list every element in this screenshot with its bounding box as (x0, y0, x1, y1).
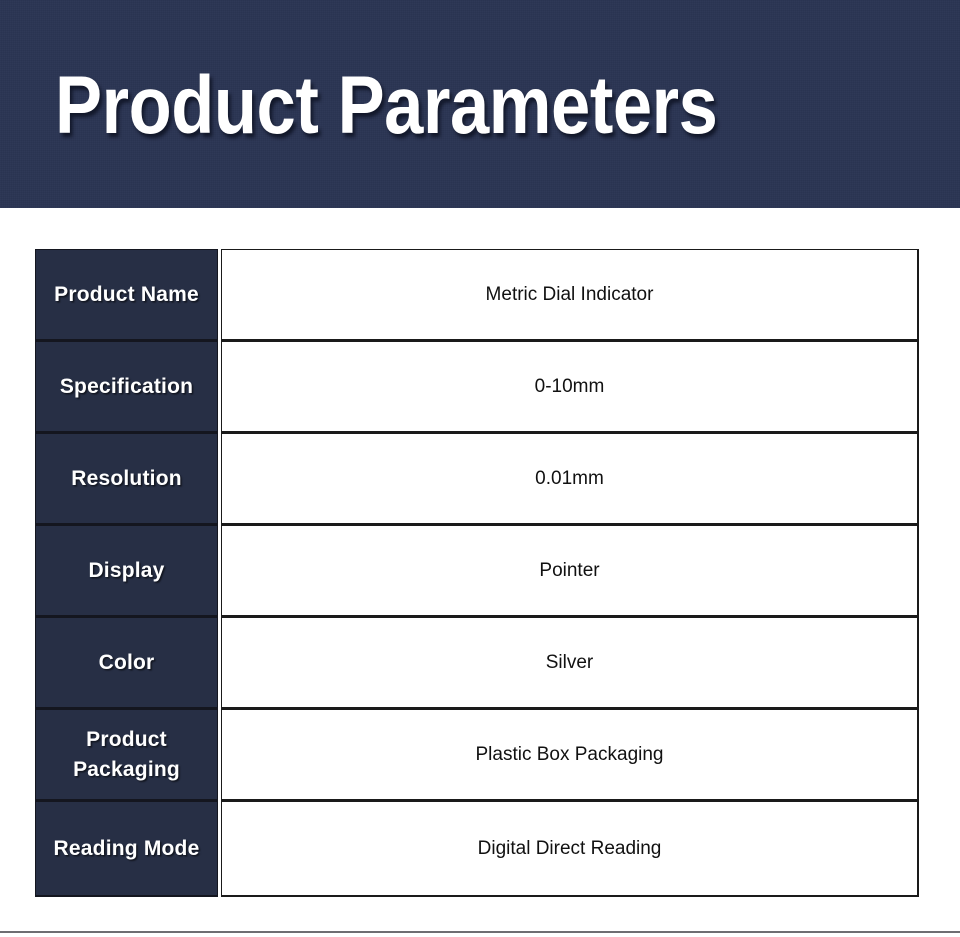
parameter-value-specification: 0-10mm (221, 341, 919, 433)
product-parameters-table: Product Name Metric Dial Indicator Speci… (35, 249, 919, 897)
table-row: Color Silver (35, 617, 919, 709)
parameter-label-product-name: Product Name (35, 249, 218, 341)
page-bottom-divider (0, 931, 960, 933)
parameter-label-reading-mode: Reading Mode (35, 801, 218, 897)
parameter-label-product-packaging: Product Packaging (35, 709, 218, 801)
table-body: Product Name Metric Dial Indicator Speci… (35, 249, 919, 897)
parameter-value-color: Silver (221, 617, 919, 709)
page-banner: Product Parameters (0, 0, 960, 208)
parameter-value-display: Pointer (221, 525, 919, 617)
table-row: Product Packaging Plastic Box Packaging (35, 709, 919, 801)
table-row: Product Name Metric Dial Indicator (35, 249, 919, 341)
table-row: Reading Mode Digital Direct Reading (35, 801, 919, 897)
parameter-value-product-packaging: Plastic Box Packaging (221, 709, 919, 801)
table-row: Resolution 0.01mm (35, 433, 919, 525)
parameter-label-display: Display (35, 525, 218, 617)
parameter-value-product-name: Metric Dial Indicator (221, 249, 919, 341)
parameter-label-specification: Specification (35, 341, 218, 433)
parameter-label-color: Color (35, 617, 218, 709)
parameter-value-resolution: 0.01mm (221, 433, 919, 525)
table-row: Specification 0-10mm (35, 341, 919, 433)
parameter-label-resolution: Resolution (35, 433, 218, 525)
page-title: Product Parameters (55, 52, 795, 160)
parameter-value-reading-mode: Digital Direct Reading (221, 801, 919, 897)
table-row: Display Pointer (35, 525, 919, 617)
